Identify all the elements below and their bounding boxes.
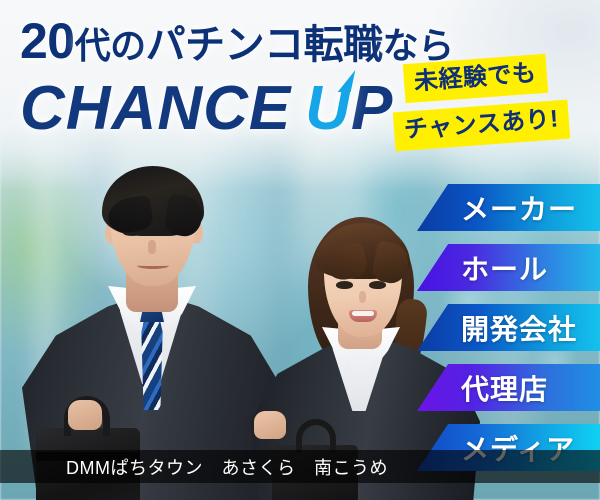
- category-button-agency[interactable]: 代理店: [417, 364, 600, 411]
- category-label: ホール: [461, 248, 548, 288]
- category-button-list: メーカー ホール 開発会社 代理店 メディア: [0, 0, 600, 500]
- category-button-hall[interactable]: ホール: [417, 244, 600, 291]
- category-label: 代理店: [461, 368, 548, 408]
- credit-bar: DMMぱちタウン あさくら 南こうめ: [0, 450, 600, 483]
- banner-ad: 20代のパチンコ転職なら CHANCEUP 未経験でも チャンスあり! メーカー…: [0, 0, 600, 500]
- credit-text: DMMぱちタウン あさくら 南こうめ: [66, 454, 388, 480]
- category-button-developer[interactable]: 開発会社: [417, 304, 600, 351]
- category-button-maker[interactable]: メーカー: [417, 184, 600, 231]
- category-label: 開発会社: [461, 308, 577, 348]
- category-label: メーカー: [461, 188, 577, 228]
